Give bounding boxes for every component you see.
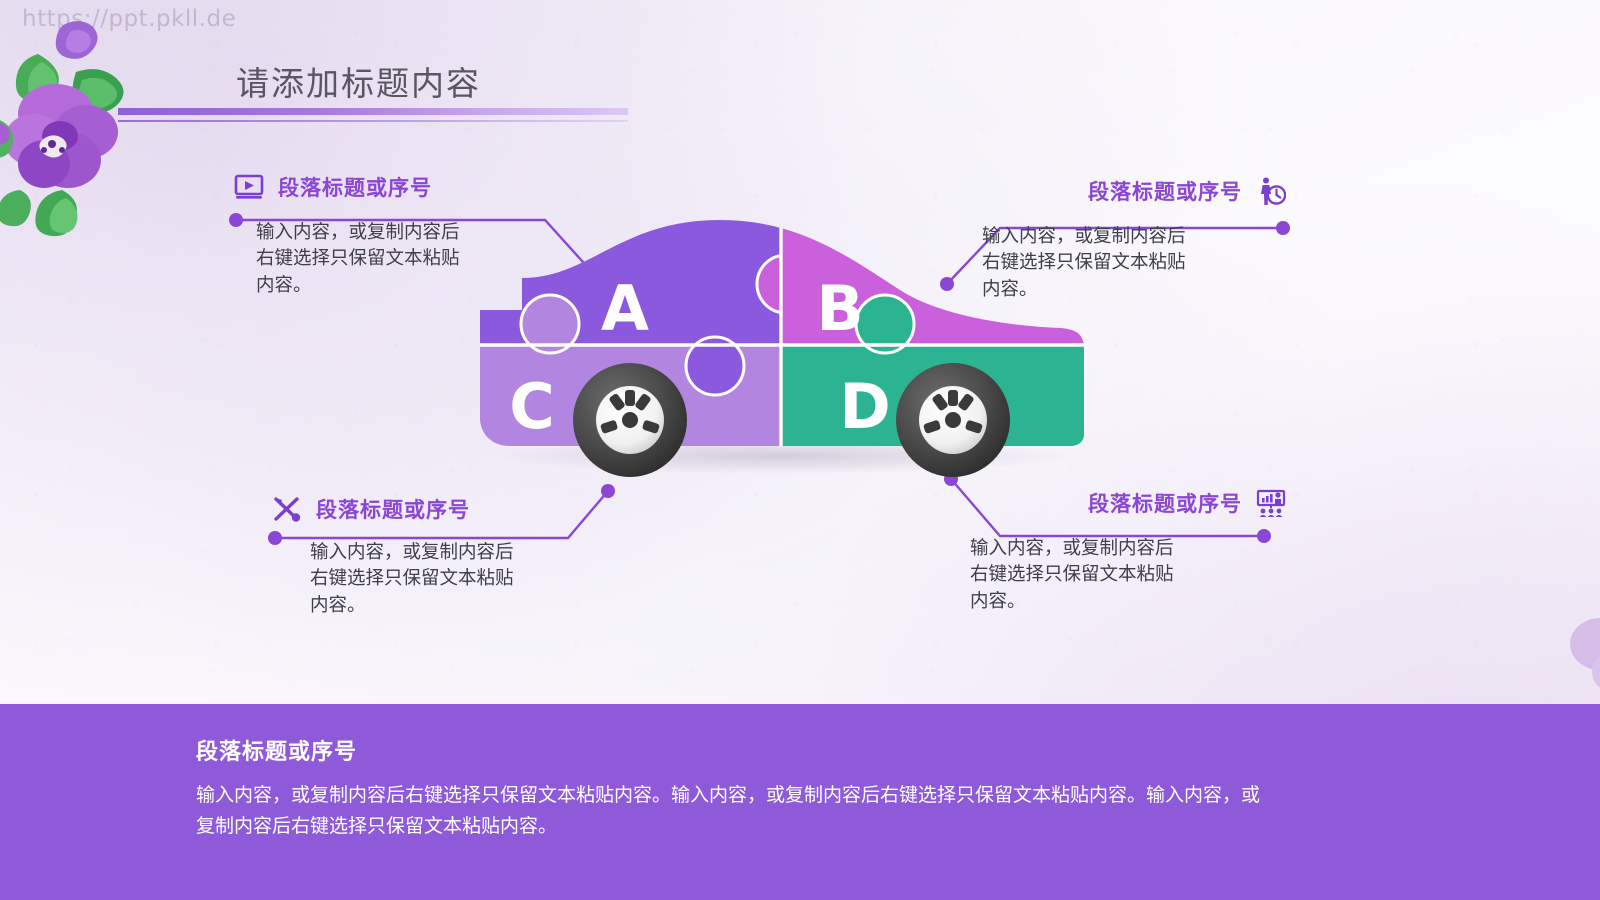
puzzle-label-A: A <box>601 272 649 345</box>
callout-bottom-left[interactable]: 段落标题或序号 输入内容，或复制内容后 右键选择只保留文本粘贴 内容。 <box>272 494 572 619</box>
callout-title: 段落标题或序号 <box>278 172 432 202</box>
puzzle-label-B: B <box>816 272 863 345</box>
callout-body: 输入内容，或复制内容后 右键选择只保留文本粘贴 内容。 <box>256 220 460 299</box>
puzzle-label-D: D <box>839 370 890 443</box>
tools-wrench-screwdriver-icon <box>272 494 302 524</box>
banner-body: 输入内容，或复制内容后右键选择只保留文本粘贴内容。输入内容，或复制内容后右键选择… <box>196 780 1406 842</box>
presentation-audience-icon <box>1256 488 1286 518</box>
callout-title: 段落标题或序号 <box>1088 488 1242 518</box>
person-clock-icon <box>1256 176 1286 206</box>
callout-title: 段落标题或序号 <box>316 494 470 524</box>
callout-top-left[interactable]: 段落标题或序号 输入内容，或复制内容后 右键选择只保留文本粘贴 内容。 <box>234 172 460 299</box>
callout-top-right[interactable]: 段落标题或序号 输入内容，或复制内容后 右键选择只保留文本粘贴 内容。 <box>930 176 1286 303</box>
callout-body: 输入内容，或复制内容后 右键选择只保留文本粘贴 内容。 <box>970 536 1286 615</box>
callout-body: 输入内容，或复制内容后 右键选择只保留文本粘贴 内容。 <box>982 224 1286 303</box>
puzzle-label-C: C <box>509 370 555 443</box>
flower-decoration-corner <box>1514 592 1600 712</box>
bottom-banner: 段落标题或序号 输入内容，或复制内容后右键选择只保留文本粘贴内容。输入内容，或复… <box>0 704 1600 900</box>
callout-title: 段落标题或序号 <box>1088 176 1242 206</box>
page-title: 请添加标题内容 <box>236 57 481 105</box>
car-wheel-rear <box>896 363 1010 477</box>
callout-bottom-right[interactable]: 段落标题或序号 输入内容，或复制内容后 右键选择只保留文本粘贴 内容。 <box>960 488 1286 615</box>
title-rule-thick <box>118 108 628 115</box>
car-wheel-front <box>573 363 687 477</box>
banner-title: 段落标题或序号 <box>196 734 357 766</box>
video-player-icon <box>234 172 264 202</box>
flower-decoration <box>0 14 160 244</box>
callout-body: 输入内容，或复制内容后 右键选择只保留文本粘贴 内容。 <box>310 540 572 619</box>
slide-canvas: https://ppt.pkll.de <box>0 0 1600 900</box>
title-rule-thin <box>118 120 628 122</box>
